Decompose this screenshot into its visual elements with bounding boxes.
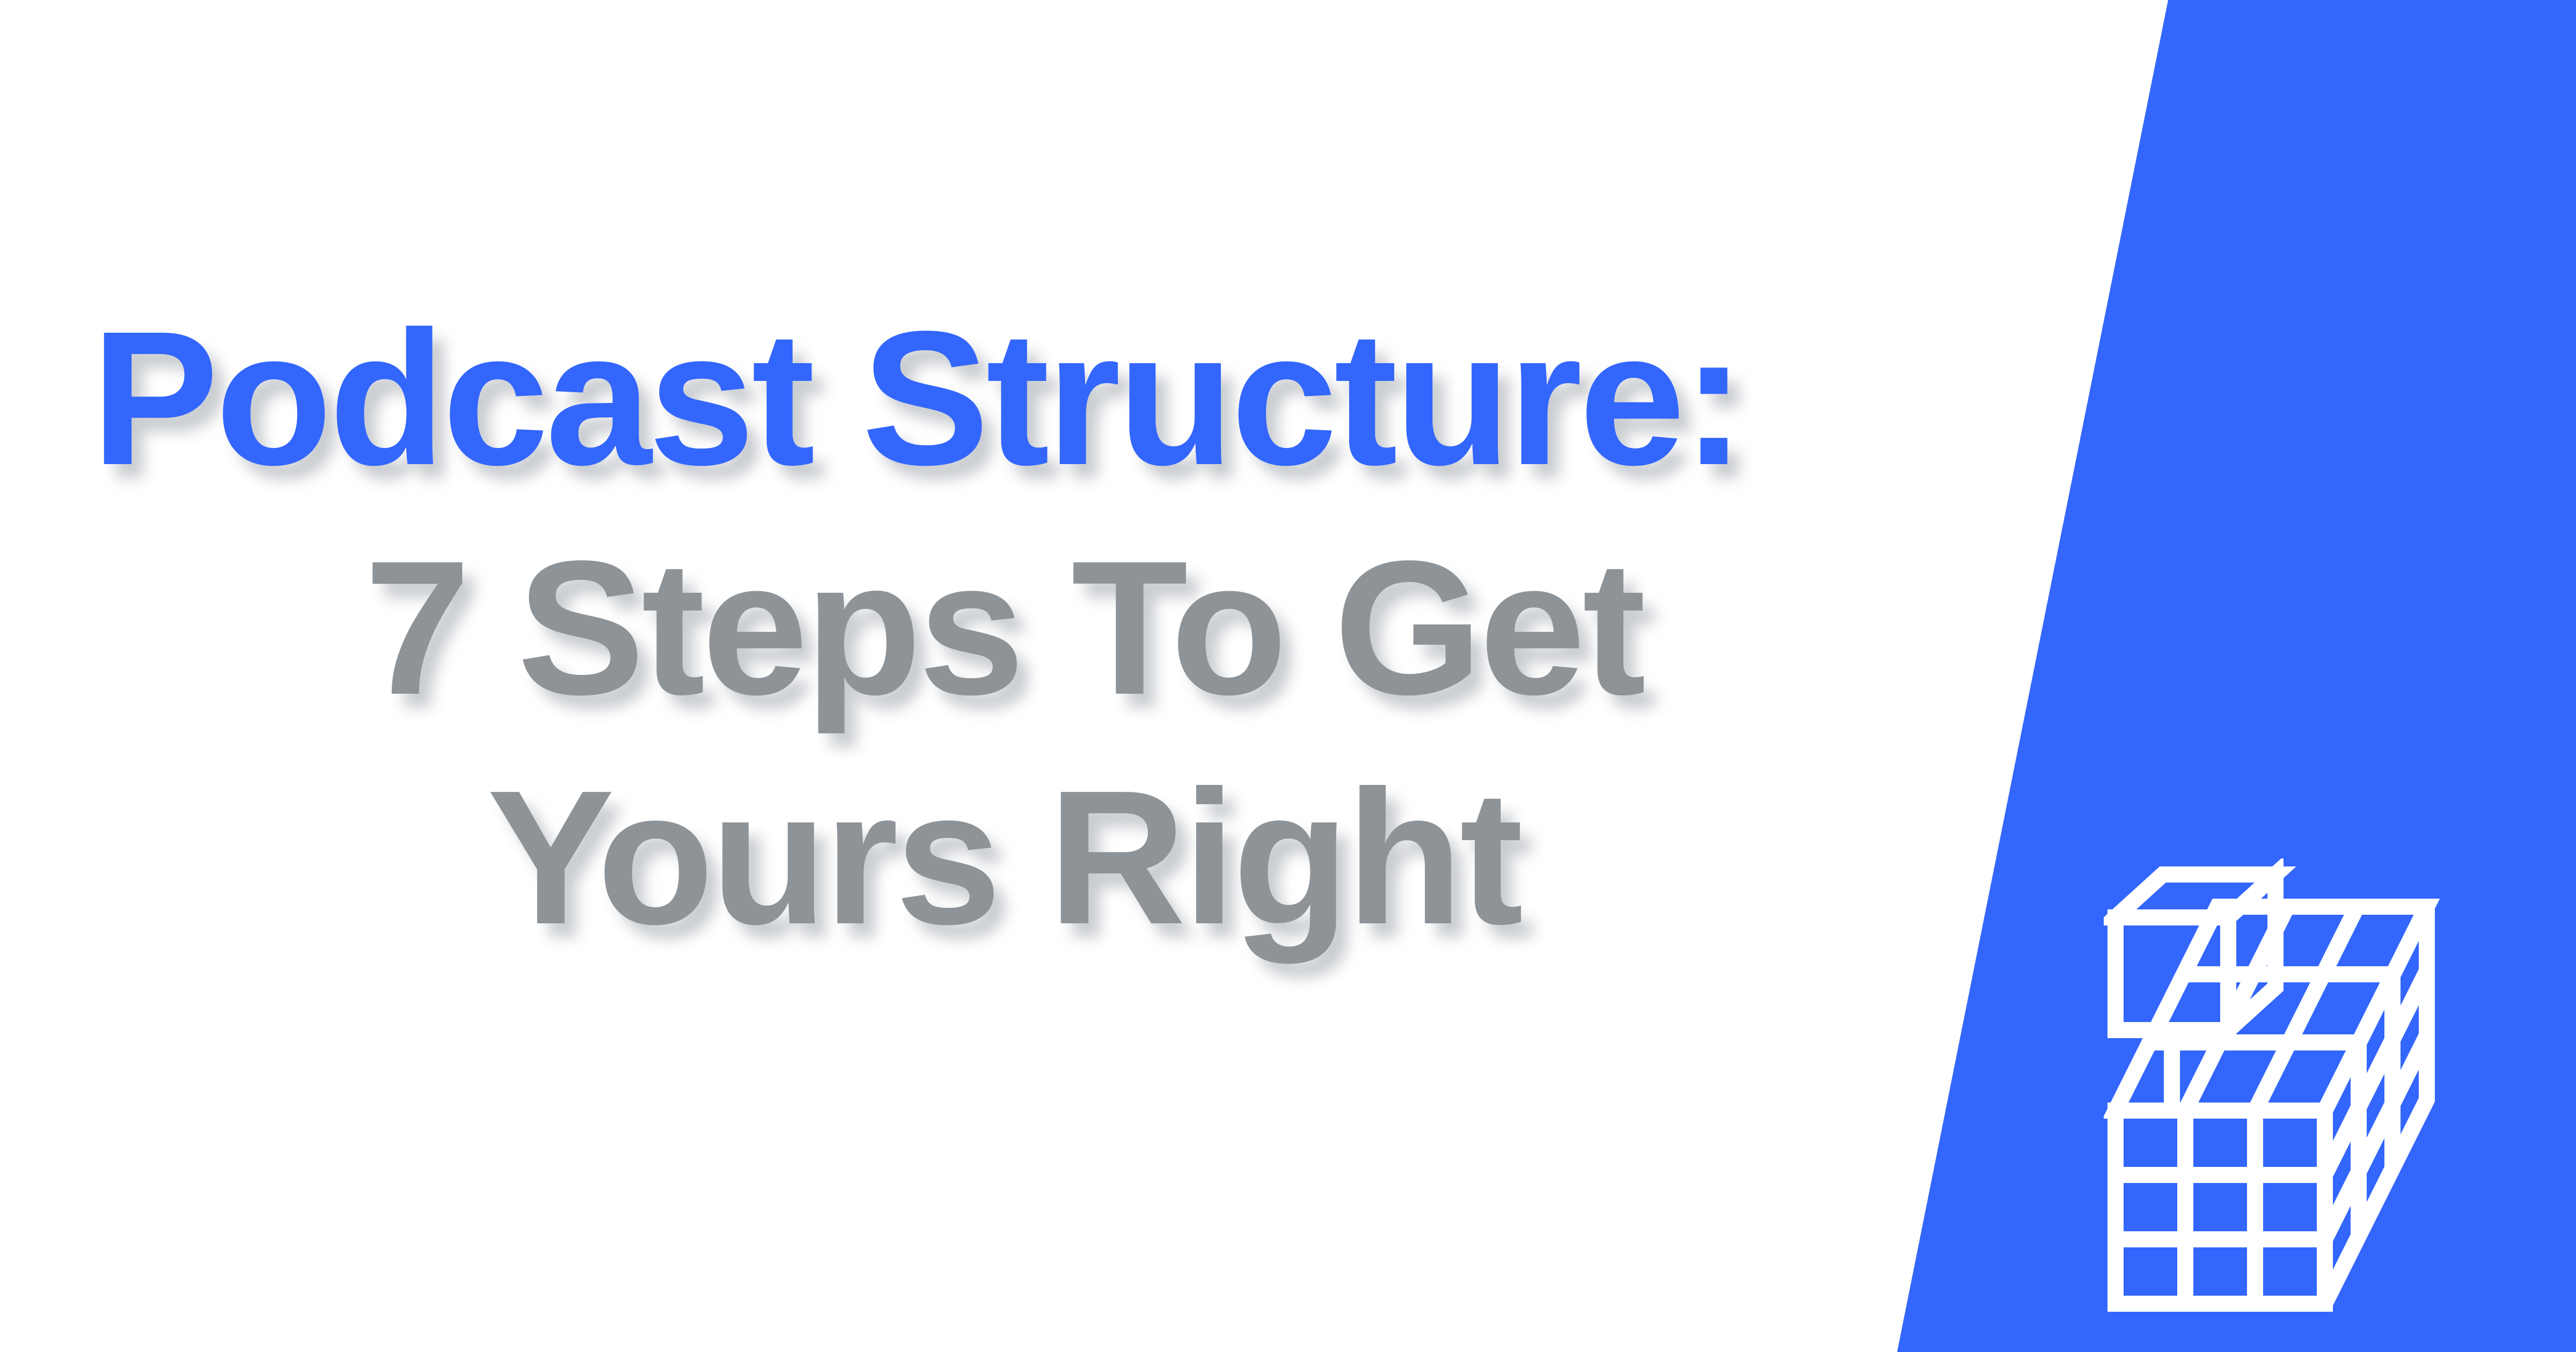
title-card-canvas: Podcast Structure: 7 Steps To Get Yours … [0,0,2576,1352]
headline-block: Podcast Structure: 7 Steps To Get Yours … [0,303,2007,953]
headline-line-3: Yours Right [0,762,2007,953]
headline-line-1: Podcast Structure: [0,303,2007,494]
rubiks-cube-icon [2104,858,2512,1320]
headline-line-2: 7 Steps To Get [0,533,2007,724]
